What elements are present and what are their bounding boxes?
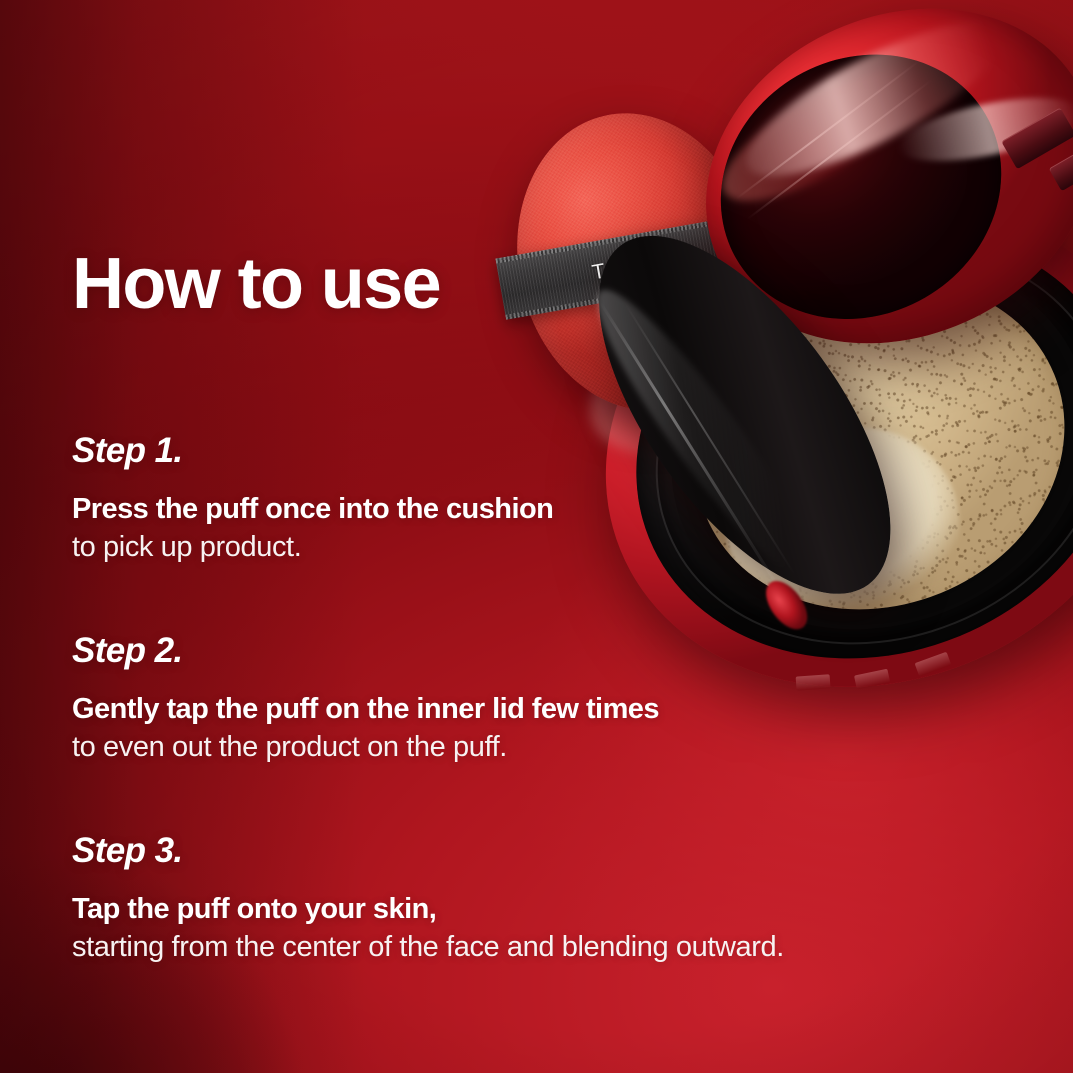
step-3-label: Step 3. <box>72 832 784 871</box>
step-block-2: Step 2. Gently tap the puff on the inner… <box>72 632 659 766</box>
page-title: How to use <box>72 248 440 320</box>
text-content: How to use Step 1. Press the puff once i… <box>72 0 1032 1073</box>
step-1-lead: Press the puff once into the cushion <box>72 490 553 528</box>
step-2-label: Step 2. <box>72 632 659 671</box>
how-to-use-banner: TIRTIR How to use Step 1. Press the puff… <box>0 0 1073 1073</box>
step-1-sub: to pick up product. <box>72 528 553 566</box>
step-1-label: Step 1. <box>72 432 553 471</box>
step-3-sub: starting from the center of the face and… <box>72 928 784 966</box>
step-3-lead: Tap the puff onto your skin, <box>72 890 784 928</box>
step-2-lead: Gently tap the puff on the inner lid few… <box>72 690 659 728</box>
step-block-3: Step 3. Tap the puff onto your skin, sta… <box>72 832 784 966</box>
step-block-1: Step 1. Press the puff once into the cus… <box>72 432 553 566</box>
step-2-sub: to even out the product on the puff. <box>72 728 659 766</box>
